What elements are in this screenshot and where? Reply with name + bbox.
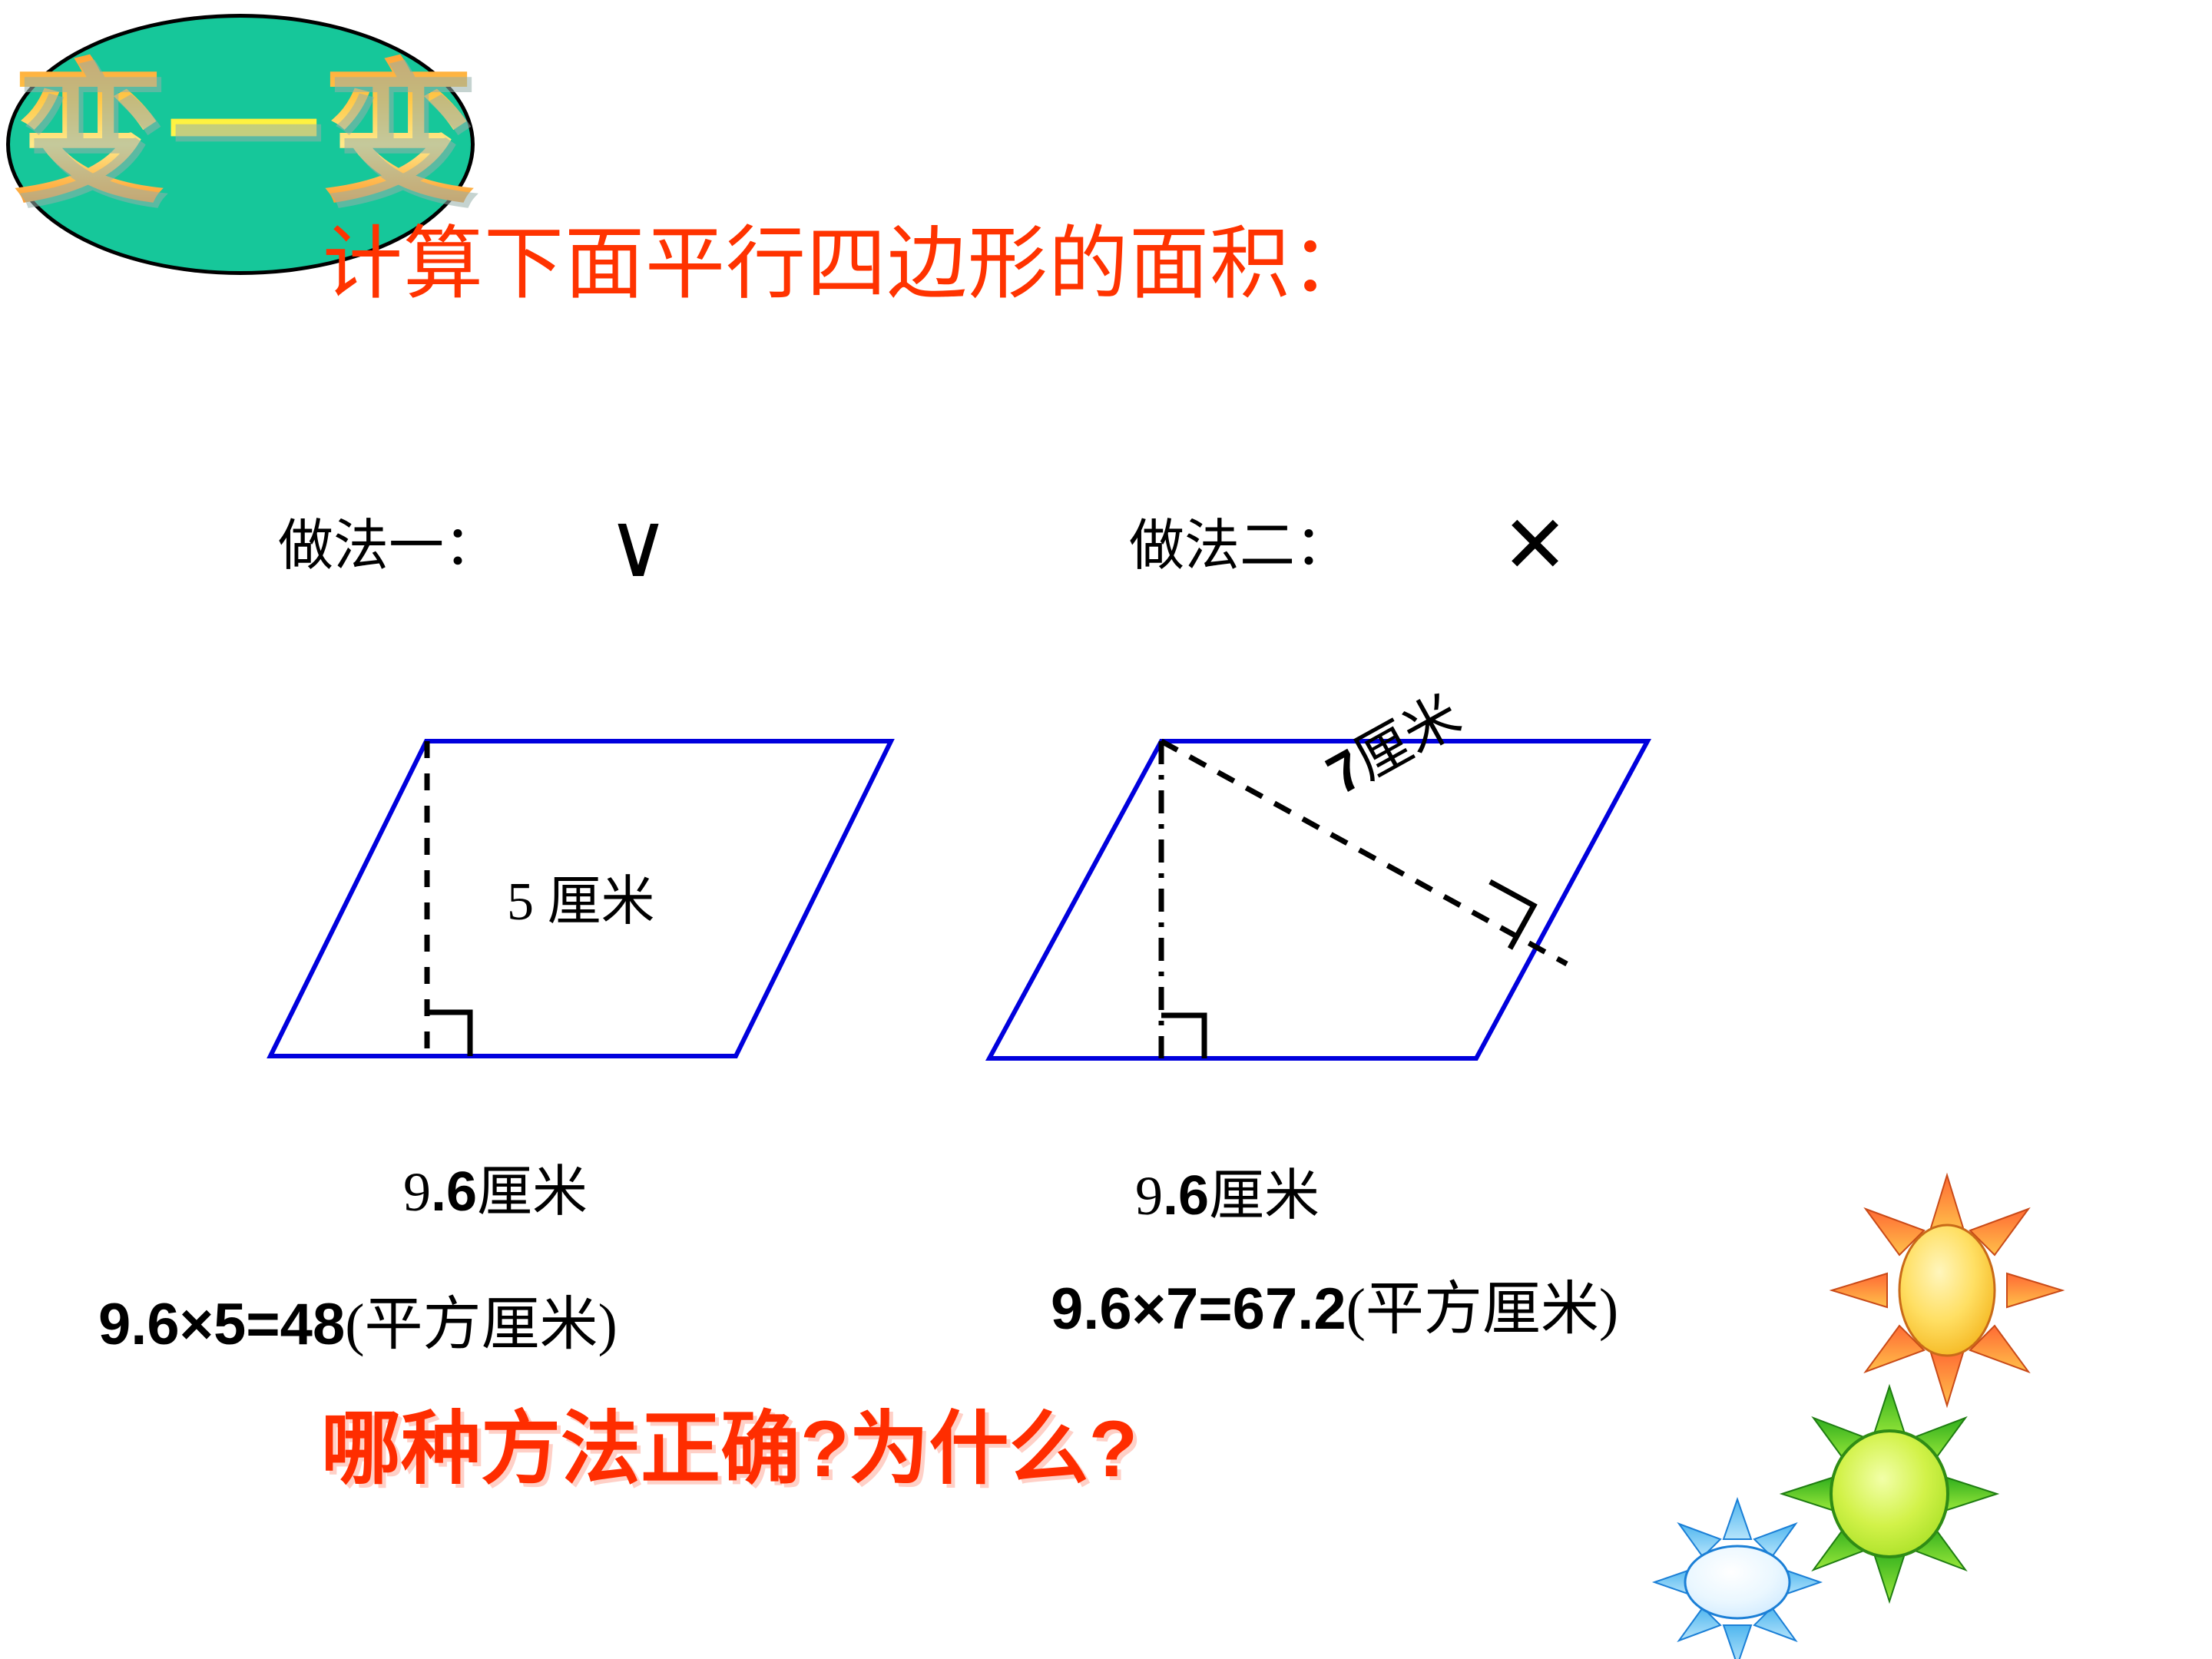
sun-green-body	[1831, 1431, 1948, 1557]
formula-one-expression: 9.6×5=48	[98, 1292, 345, 1357]
check-mark-icon: ∨	[607, 497, 670, 594]
base-one-dec: .6	[431, 1161, 477, 1223]
question-part-one: 哪种方法正确	[321, 1406, 800, 1494]
formula-two: 9.6×7=67.2(平方厘米)	[1051, 1275, 1618, 1344]
height-label-one: 5 厘米	[507, 872, 655, 933]
base-label-two: 9.6厘米	[1135, 1164, 1320, 1228]
badge-label: 变一变	[6, 54, 482, 219]
formula-one-unit: (平方厘米)	[345, 1293, 618, 1357]
formula-two-expression: 9.6×7=67.2	[1051, 1277, 1346, 1342]
sun-decorations-group	[1651, 1152, 2212, 1659]
sun-blue-body	[1685, 1546, 1790, 1618]
sun-blue-icon	[1654, 1499, 1820, 1659]
base-two-unit: 厘米	[1209, 1165, 1320, 1227]
badge-char-3: 变	[322, 51, 477, 221]
badge-char-1: 变	[12, 51, 167, 221]
method-one-heading: 做法一：	[278, 515, 499, 578]
base-two-dec: .6	[1163, 1165, 1209, 1227]
base-two-int: 9	[1135, 1165, 1163, 1227]
base-one-unit: 厘米	[477, 1161, 588, 1223]
method-two-heading: 做法二：	[1129, 515, 1350, 578]
sun-orange-body	[1899, 1225, 1995, 1356]
slide-canvas: 变一变 计算下面平行四边形的面积： 做法一： ∨ 做法二： ✕ 5 厘米 7厘米…	[0, 0, 2212, 1659]
question-part-two: 为什么	[849, 1406, 1089, 1494]
right-angle-marker-two-base	[1161, 1015, 1204, 1058]
right-angle-marker-one	[427, 1012, 470, 1056]
formula-one: 9.6×5=48(平方厘米)	[98, 1290, 618, 1359]
sun-green-icon	[1782, 1386, 1997, 1601]
question-mark-one: ?	[800, 1405, 849, 1494]
base-one-int: 9	[403, 1161, 431, 1223]
closing-question: 哪种方法正确?为什么?	[321, 1402, 1137, 1498]
sun-orange-icon	[1832, 1175, 2062, 1406]
cross-mark-icon: ✕	[1502, 499, 1568, 591]
right-angle-marker-two-slant	[1490, 882, 1534, 949]
base-label-one: 9.6厘米	[403, 1160, 588, 1224]
question-mark-two: ?	[1089, 1405, 1138, 1494]
parallelogram-two-outline	[989, 741, 1647, 1058]
formula-two-unit: (平方厘米)	[1346, 1277, 1619, 1342]
page-title: 计算下面平行四边形的面积：	[323, 219, 1371, 311]
badge-char-2: 一	[167, 51, 322, 221]
